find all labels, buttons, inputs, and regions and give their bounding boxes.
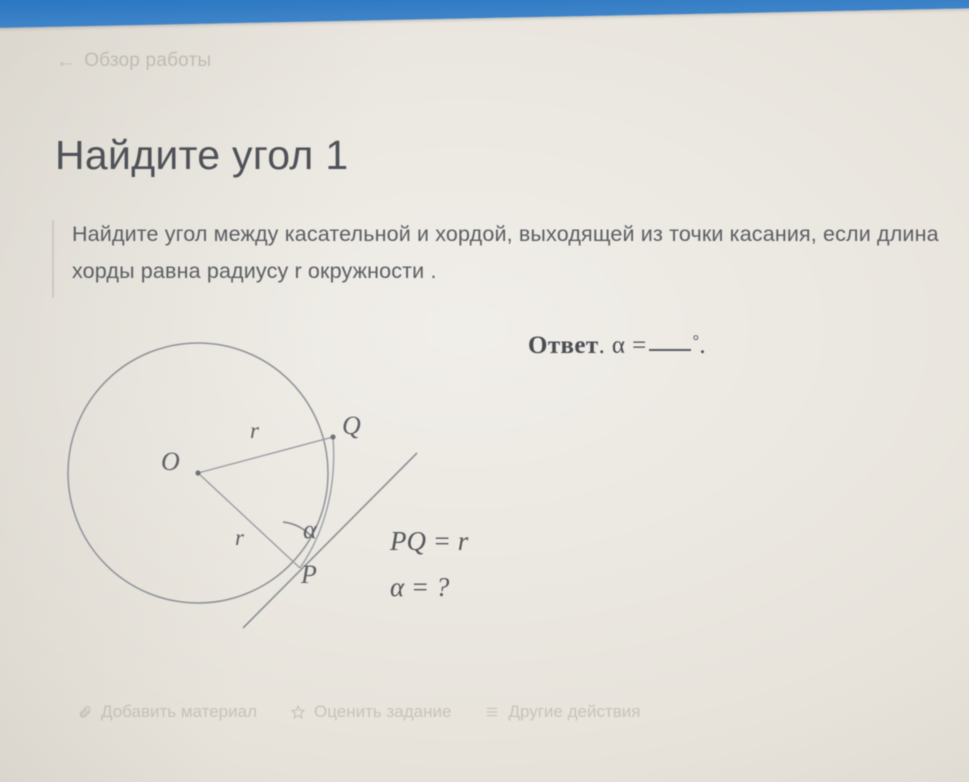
- label-point-p: P: [301, 560, 317, 590]
- action-other-actions[interactable]: Другие действия: [485, 702, 640, 722]
- radius-oq-line: [198, 437, 333, 473]
- figure-equations: PQ = r α = ?: [390, 518, 468, 610]
- geometry-figure: O Q P r r α: [55, 325, 585, 645]
- screenshot-root: ← Обзор работы Найдите угол 1 Найдите уг…: [0, 0, 969, 782]
- task-description-text: Найдите угол между касательной и хордой,…: [52, 216, 952, 290]
- action-add-material-label: Добавить материал: [101, 702, 257, 722]
- page-title: Найдите угол 1: [55, 132, 348, 179]
- point-q-dot: [330, 434, 335, 439]
- equation-alpha: α = ?: [390, 564, 468, 610]
- answer-separator: .: [599, 332, 606, 359]
- label-radius-bottom: r: [235, 525, 244, 551]
- action-bar: Добавить материал Оценить задание Другие…: [78, 702, 640, 722]
- breadcrumb[interactable]: ← Обзор работы: [56, 50, 211, 72]
- back-arrow-icon[interactable]: ←: [56, 52, 75, 71]
- label-point-q: Q: [342, 411, 361, 441]
- breadcrumb-label[interactable]: Обзор работы: [84, 50, 211, 72]
- chord-pq-line: [300, 437, 334, 568]
- label-radius-top: r: [250, 418, 259, 444]
- star-rate-icon: [291, 705, 306, 720]
- label-center-o: O: [161, 447, 180, 477]
- paperclip-icon: [78, 705, 93, 720]
- action-rate-task-label: Оценить задание: [314, 702, 451, 722]
- equation-pq: PQ = r: [390, 518, 468, 564]
- answer-alpha-symbol: α: [612, 332, 626, 359]
- list-menu-icon: [485, 705, 500, 720]
- answer-equals: =: [632, 332, 647, 359]
- radius-op-line: [198, 473, 300, 568]
- answer-blank-field[interactable]: [649, 349, 691, 351]
- action-add-material[interactable]: Добавить материал: [78, 702, 257, 722]
- top-blue-band: [0, 0, 969, 28]
- figure-svg: [55, 325, 585, 645]
- action-rate-task[interactable]: Оценить задание: [291, 702, 451, 722]
- center-point-dot: [195, 470, 200, 475]
- task-accent-rule: [52, 220, 54, 298]
- action-other-actions-label: Другие действия: [508, 702, 640, 722]
- label-angle-alpha: α: [303, 515, 317, 545]
- task-description-block: Найдите угол между касательной и хордой,…: [52, 216, 952, 290]
- answer-period: .: [699, 332, 706, 359]
